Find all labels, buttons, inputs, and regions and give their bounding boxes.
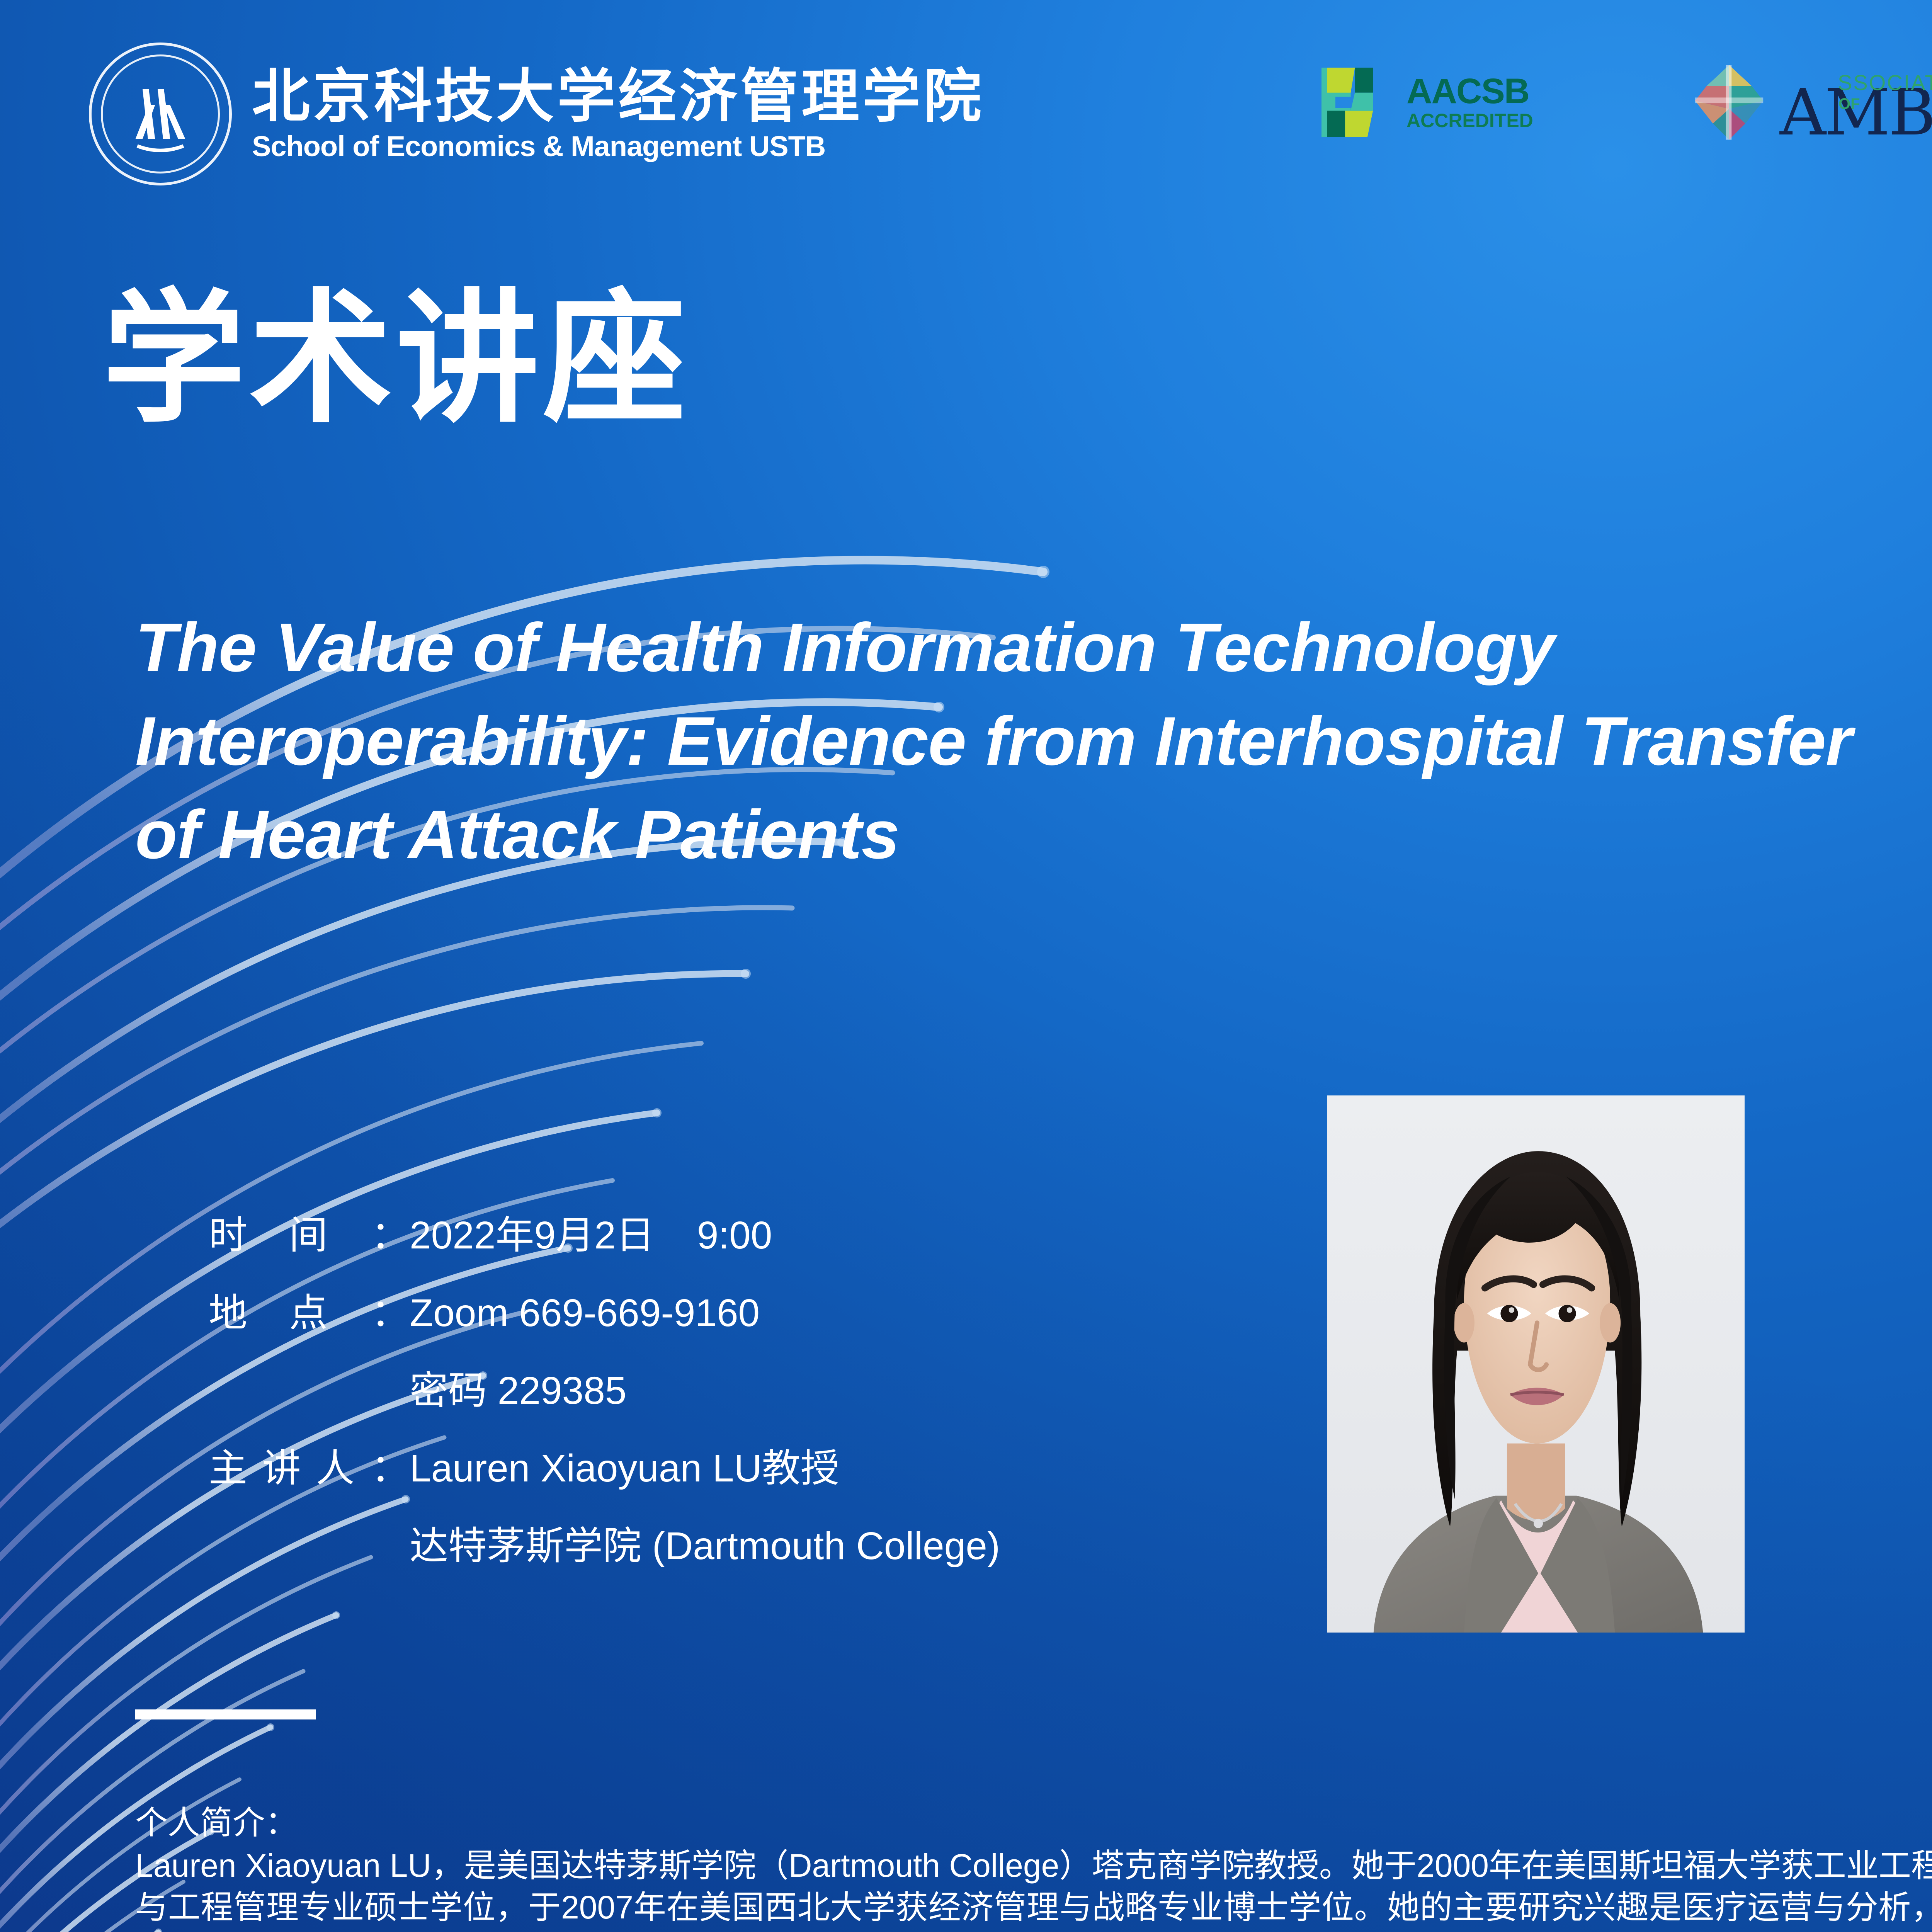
amba-association-text: SSOCIATION	[1838, 70, 1932, 95]
detail-value-time: 2022年9月2日9:00	[410, 1209, 1291, 1262]
school-name-en: School of Economics & Management USTB	[252, 132, 985, 161]
detail-row-time: 时间： 2022年9月2日9:00	[209, 1209, 1291, 1262]
amba-of-text: OF	[1838, 95, 1860, 113]
detail-value-affiliation: 达特茅斯学院 (Dartmouth College)	[410, 1520, 1291, 1572]
detail-row-speaker: 主讲人： Lauren Xiaoyuan LU教授	[209, 1442, 1291, 1495]
lecture-poster: 母校習深 鋼鐵搖籃 北京科技大学经济管理学院 School of Economi…	[0, 0, 1932, 1932]
aacsb-mark-icon	[1321, 68, 1391, 137]
talk-title: The Value of Health Information Technolo…	[135, 601, 1874, 881]
school-name-cn: 北京科技大学经济管理学院	[252, 67, 985, 125]
section-divider	[135, 1709, 316, 1719]
aacsb-accreditation-logo: AACSB ACCREDITED	[1321, 68, 1533, 137]
bio-body: Lauren Xiaoyuan LU，是美国达特茅斯学院（Dartmouth C…	[135, 1845, 1932, 1932]
amba-accreditation-logo: AMBA SSOCIATION OF S	[1689, 62, 1932, 143]
bio-heading: 个人简介：	[135, 1803, 1932, 1844]
speaker-bio: 个人简介： Lauren Xiaoyuan LU，是美国达特茅斯学院（Dartm…	[135, 1803, 1932, 1932]
bio-paragraph: Lauren Xiaoyuan LU，是美国达特茅斯学院（Dartmouth C…	[135, 1845, 1932, 1932]
event-date: 2022年9月2日	[410, 1214, 655, 1257]
detail-value-passcode: 密码 229385	[410, 1365, 1291, 1417]
event-details: 时间： 2022年9月2日9:00 地点： Zoom 669-669-9160 …	[209, 1209, 1291, 1598]
ustb-crest-icon	[89, 43, 232, 185]
school-branding: 北京科技大学经济管理学院 School of Economics & Manag…	[89, 43, 985, 185]
detail-row-affiliation: 达特茅斯学院 (Dartmouth College)	[209, 1520, 1291, 1572]
detail-label-time: 时间：	[209, 1209, 410, 1262]
detail-row-passcode: 密码 229385	[209, 1365, 1291, 1417]
detail-value-speaker: Lauren Xiaoyuan LU教授	[410, 1442, 1291, 1495]
detail-label-location: 地点：	[209, 1287, 410, 1339]
speaker-portrait	[1327, 1095, 1745, 1633]
aacsb-label-line1: AACSB	[1406, 75, 1533, 108]
detail-label-speaker: 主讲人：	[209, 1442, 410, 1495]
event-time: 9:00	[697, 1214, 772, 1257]
page-title-kicker: 学术讲座	[102, 288, 690, 431]
detail-value-location: Zoom 669-669-9160	[410, 1287, 1291, 1339]
aacsb-label-line2: ACCREDITED	[1406, 111, 1533, 130]
amba-diamond-icon	[1689, 62, 1770, 143]
detail-row-location: 地点： Zoom 669-669-9160	[209, 1287, 1291, 1339]
poster-header: 北京科技大学经济管理学院 School of Economics & Manag…	[0, 0, 1932, 236]
